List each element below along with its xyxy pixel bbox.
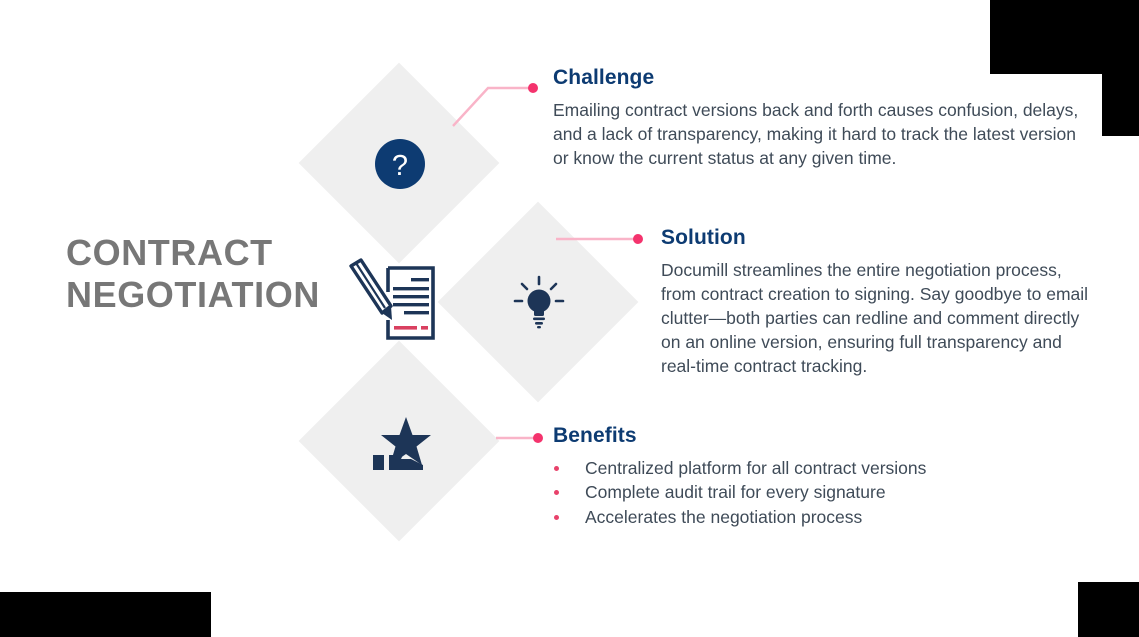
bullet-dot-icon (554, 515, 559, 520)
section-solution: Solution Documill streamlines the entire… (661, 226, 1089, 379)
list-item-label: Centralized platform for all contract ve… (585, 458, 926, 478)
section-body-challenge: Emailing contract versions back and fort… (553, 99, 1083, 171)
section-challenge: Challenge Emailing contract versions bac… (553, 66, 1083, 171)
decor-black-block-top-right-tail (1102, 74, 1139, 136)
decor-black-block-bottom-right (1078, 582, 1139, 637)
bullet-dot-icon (554, 490, 559, 495)
connector-line-challenge (448, 68, 540, 130)
contract-signing-icon (345, 258, 439, 346)
infographic-slide: CONTRACT NEGOTIATION ? (0, 0, 1139, 637)
list-item: Centralized platform for all contract ve… (553, 457, 1023, 480)
section-heading-challenge: Challenge (553, 66, 1083, 90)
section-benefits: Benefits Centralized platform for all co… (553, 424, 1023, 530)
question-mark-icon: ? (375, 139, 425, 189)
list-item-label: Complete audit trail for every signature (585, 482, 886, 502)
lightbulb-icon (512, 275, 566, 329)
list-item-label: Accelerates the negotiation process (585, 507, 862, 527)
connector-line-benefits (496, 431, 544, 445)
list-item: Complete audit trail for every signature (553, 481, 1023, 504)
page-title-line-2: NEGOTIATION (66, 274, 342, 316)
bullet-dot-icon (554, 466, 559, 471)
award-star-icon (371, 415, 431, 473)
connector-line-solution (556, 232, 644, 246)
page-title-line-1: CONTRACT (66, 232, 342, 274)
section-heading-solution: Solution (661, 226, 1089, 250)
list-item: Accelerates the negotiation process (553, 506, 1023, 529)
section-body-solution: Documill streamlines the entire negotiat… (661, 259, 1089, 379)
decor-black-block-top-right (990, 0, 1139, 74)
svg-text:?: ? (392, 150, 408, 182)
section-heading-benefits: Benefits (553, 424, 1023, 448)
benefits-list: Centralized platform for all contract ve… (553, 457, 1023, 529)
page-title: CONTRACT NEGOTIATION (66, 232, 342, 317)
decor-black-block-bottom-left (0, 592, 211, 637)
